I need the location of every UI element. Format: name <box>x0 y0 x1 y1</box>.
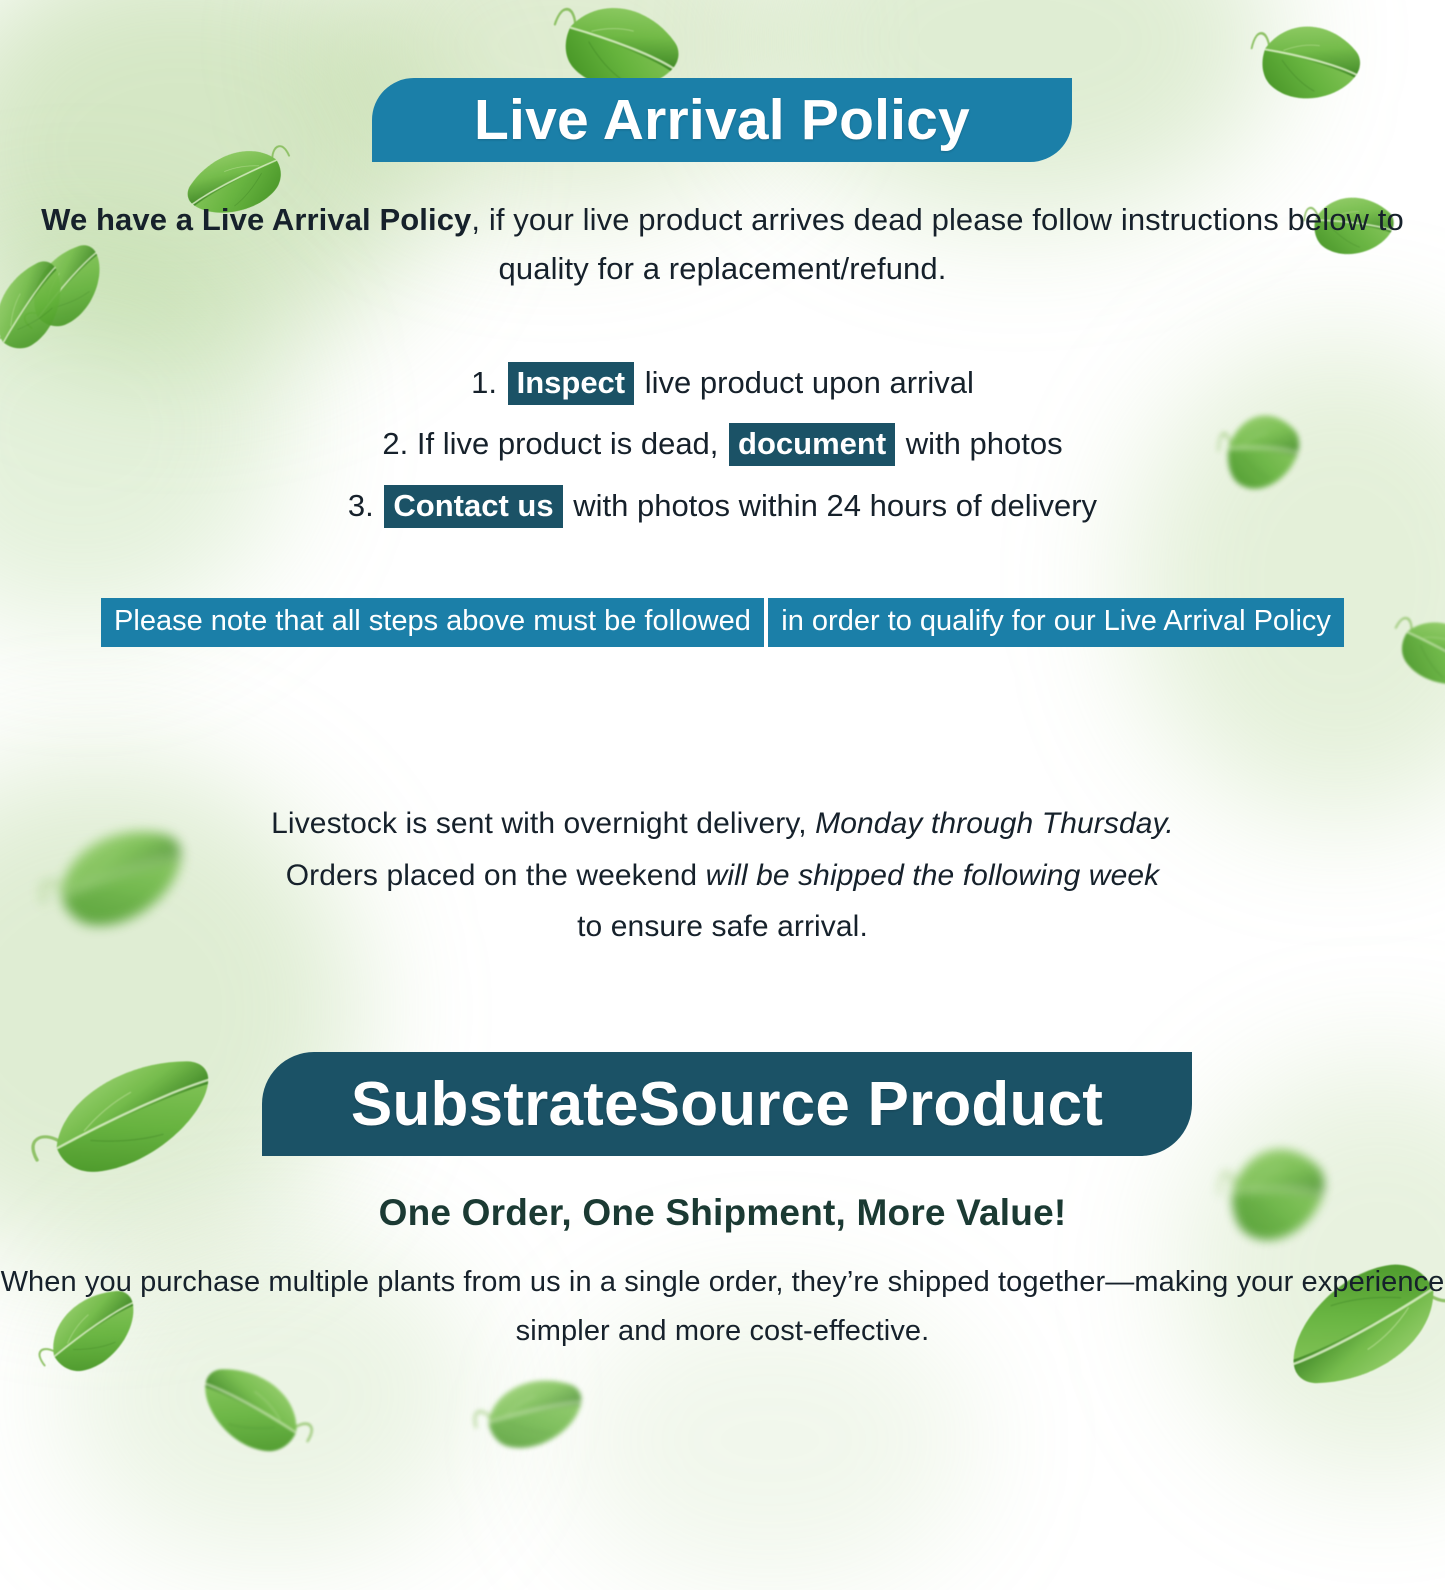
step-text: with photos within 24 hours of delivery <box>573 488 1097 523</box>
policy-intro-paragraph: We have a Live Arrival Policy, if your l… <box>0 196 1445 294</box>
live-arrival-policy-banner: Live Arrival Policy <box>372 78 1072 162</box>
step-number: 2. <box>382 426 408 461</box>
shipping-line3-plain: to ensure safe arrival. <box>577 910 868 943</box>
policy-steps-list: 1. Inspect live product upon arrival 2. … <box>0 352 1445 536</box>
list-item: 1. Inspect live product upon arrival <box>0 352 1445 413</box>
step-keyword-document: document <box>729 423 895 466</box>
list-item: 3. Contact us with photos within 24 hour… <box>0 475 1445 536</box>
step-number: 1. <box>471 365 497 400</box>
step-number: 3. <box>348 488 374 523</box>
policy-infographic: Live Arrival Policy We have a Live Arriv… <box>0 0 1445 1445</box>
note-line: in order to qualify for our Live Arrival… <box>768 598 1344 647</box>
note-line: Please note that all steps above must be… <box>101 598 764 647</box>
step-text-before: If live product is dead, <box>417 426 719 461</box>
intro-bold-lead: We have a Live Arrival Policy <box>41 202 471 237</box>
list-item: 2. If live product is dead, document wit… <box>0 413 1445 474</box>
shipping-line2-italic: will be shipped the following week <box>706 859 1160 892</box>
shipping-line2-plain: Orders placed on the weekend <box>286 859 697 892</box>
step-text: live product upon arrival <box>645 365 974 400</box>
substratesource-product-banner: SubstrateSource Product <box>262 1052 1192 1156</box>
product-tagline: One Order, One Shipment, More Value! <box>0 1192 1445 1234</box>
intro-rest: , if your live product arrives dead plea… <box>471 202 1403 286</box>
shipping-line1-plain: Livestock is sent with overnight deliver… <box>271 807 807 840</box>
shipping-line1-italic: Monday through Thursday. <box>815 807 1174 840</box>
product-description: When you purchase multiple plants from u… <box>0 1258 1445 1355</box>
step-keyword-inspect: Inspect <box>508 362 635 405</box>
step-text: with photos <box>906 426 1063 461</box>
step-keyword-contact-us: Contact us <box>384 485 562 528</box>
policy-note-block: Please note that all steps above must be… <box>0 584 1445 647</box>
shipping-schedule-paragraph: Livestock is sent with overnight deliver… <box>0 798 1445 953</box>
